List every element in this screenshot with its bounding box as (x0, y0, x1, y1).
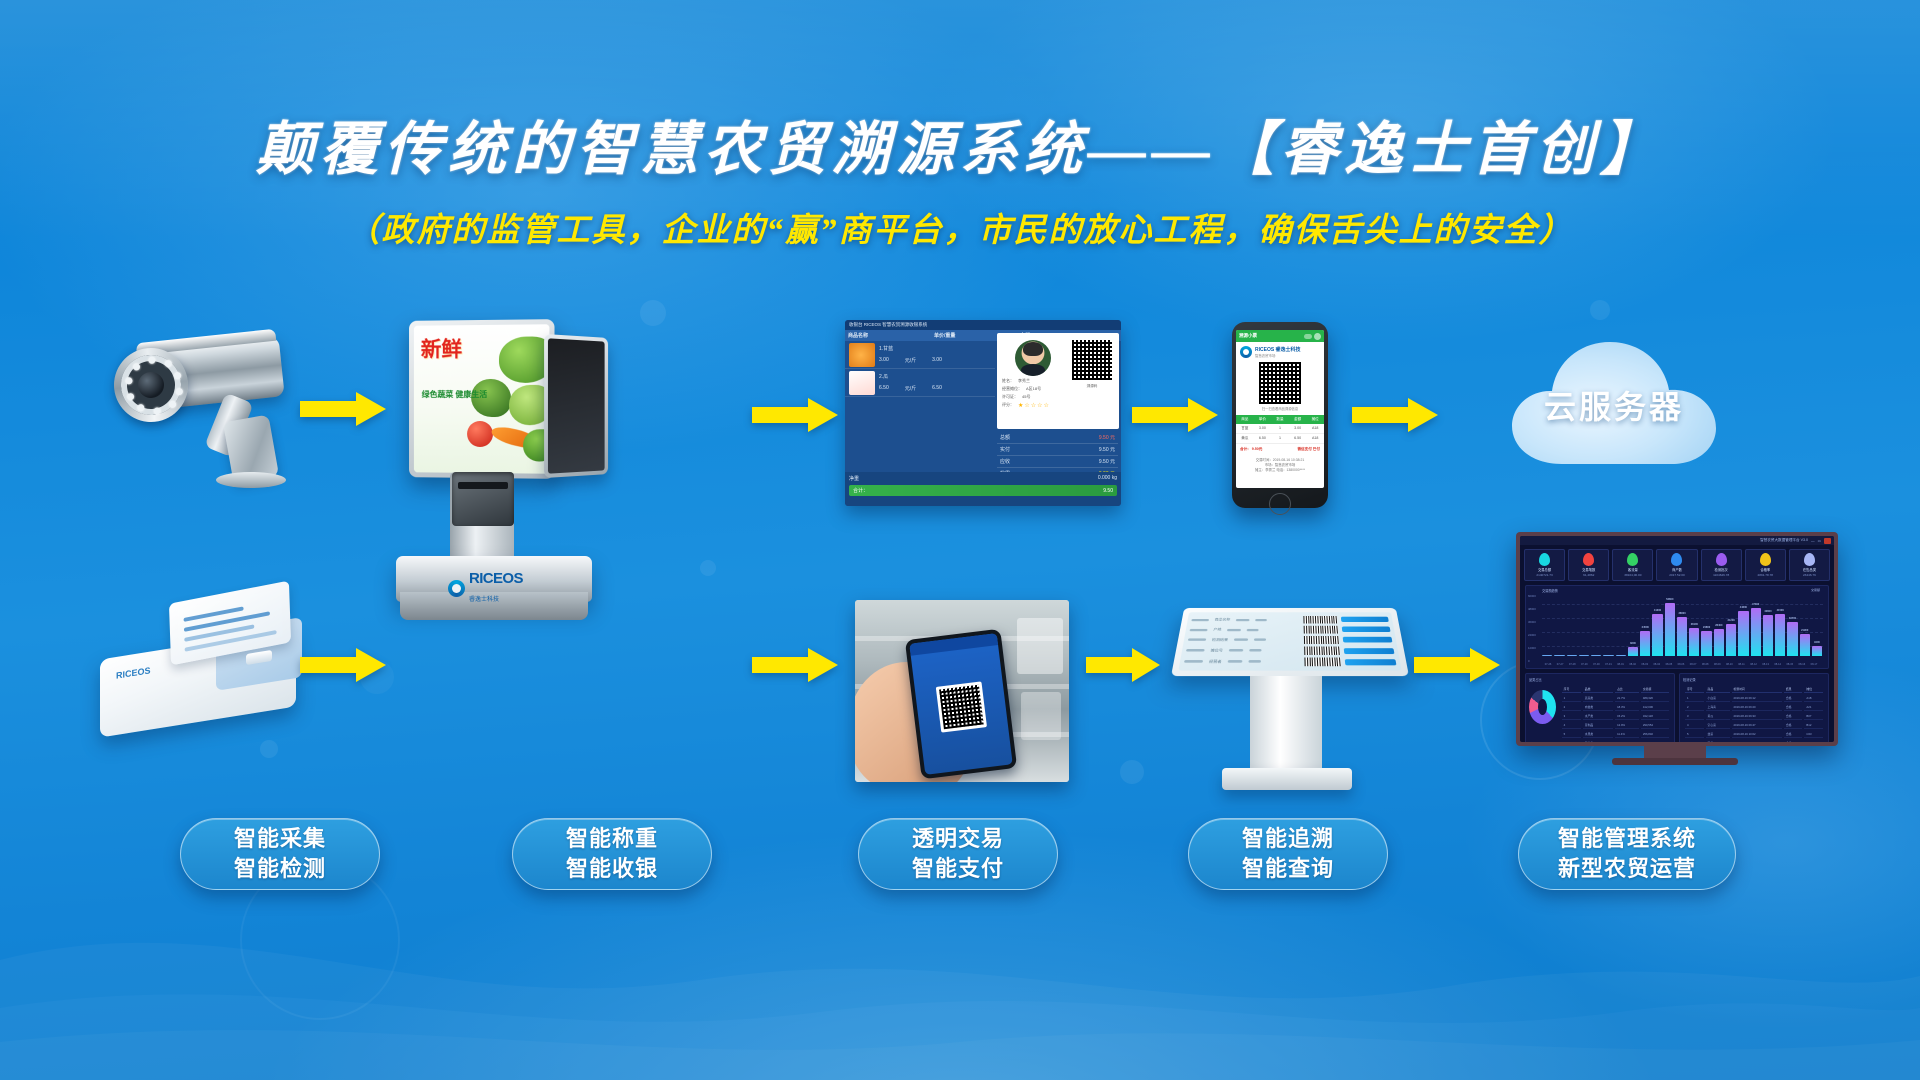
pane-title: 品类占比 (1529, 677, 1671, 682)
pos-display-subline: 绿色蔬菜 健康生活 (422, 389, 487, 400)
node-kiosk[interactable]: 商品名称 产地 检测结果 摊位号 经营者 (1178, 598, 1402, 794)
cell: 豆制品 (1583, 722, 1613, 729)
chart-x-tick: 07-28 (1569, 663, 1576, 666)
pane-inspection-records[interactable]: 检测记录 序号商品检测时间结果摊位1小白菜2019-08-16 09:12合格A… (1679, 673, 1829, 742)
pill-4[interactable]: 智能管理系统 新型农贸运营 (1518, 818, 1736, 890)
kiosk-stand (1250, 676, 1322, 772)
monitor-bezel: 智慧农贸大数据管理平台 V3.0 — ▭ 交易总额2140721.73 交易笔数… (1516, 532, 1838, 746)
cell: 3.00 (1254, 424, 1272, 433)
pill-line-2: 智能支付 (912, 854, 1004, 884)
dashboard-lower-panes: 品类占比 序号品类占比交易额1蔬菜类21.7%489,3202肉禽类18.3%4… (1525, 673, 1829, 742)
smartphone-scanning (905, 629, 1017, 780)
qr-code-icon (1304, 636, 1339, 644)
kpi-card[interactable]: 交易笔数61,4862 (1568, 549, 1609, 581)
kiosk-row-label: 经营者 (1209, 659, 1222, 664)
cell: 2019-08-16 09:33 (1732, 713, 1782, 720)
receipt-col-2: 数量 (1271, 415, 1289, 424)
pos-operator-display[interactable] (544, 334, 608, 478)
node-cloud-server[interactable]: 云服务器 (1500, 330, 1750, 480)
app-header: 溯源小票 (1236, 330, 1324, 342)
kiosk-button[interactable] (1341, 617, 1389, 622)
cell: 6.50 (1254, 434, 1272, 443)
detector-screen (177, 589, 283, 657)
chart-x-tick: 07-31 (1605, 663, 1612, 666)
pill-0[interactable]: 智能采集 智能检测 (180, 818, 380, 890)
category-table: 序号品类占比交易额1蔬菜类21.7%489,3202肉禽类18.3%412,00… (1560, 684, 1671, 742)
cell: 1 (1271, 434, 1289, 443)
node-receipt-phone[interactable]: 溯源小票 RICEOS 睿逸士科技 智慧农贸市场 扫一扫查看商品溯源信息 商品 … (1232, 322, 1328, 512)
chart-x-tick: 08-03 (1641, 663, 1648, 666)
cell: A18 (1306, 434, 1324, 443)
arrow-transaction-to-receipt (1132, 398, 1218, 432)
qr-code-icon (1304, 658, 1341, 667)
donut-chart (1529, 690, 1556, 724)
cell: 2 (1685, 704, 1704, 711)
footer-total-label: 合计： (853, 487, 868, 494)
table-row[interactable]: 1蔬菜类21.7%489,320 (1562, 695, 1669, 702)
riceos-mark (448, 580, 465, 597)
dashboard-window-title: 智慧农贸大数据管理平台 V3.0 (1760, 538, 1808, 543)
chart-x-tick: 08-06 (1678, 663, 1685, 666)
app-header-actions[interactable] (1304, 333, 1321, 340)
cell: 15.2% (1615, 713, 1639, 720)
footer-total-value: 9.50 (1103, 488, 1113, 494)
column-header: 结果 (1784, 686, 1803, 693)
item-price: 3.00 (879, 357, 889, 364)
vendor-field-key: 评分： (1002, 402, 1014, 409)
kpi-card[interactable]: 交易总额2140721.73 (1524, 549, 1565, 581)
column-header: 商品 (1706, 686, 1730, 693)
node-camera[interactable] (96, 330, 306, 500)
cell: 6 (1562, 740, 1581, 742)
chart-x-tick: 08-04 (1653, 663, 1660, 666)
table-row[interactable]: 2.瓜 6.50 元/斤 6.50 (845, 369, 995, 397)
vendor-field-value: 李秀兰 (1018, 378, 1030, 384)
total-key: 应收 (1000, 458, 1010, 465)
arrow-receipt-to-cloud (1352, 398, 1438, 432)
kpi-card[interactable]: 检测批次1104646.78 (1701, 549, 1742, 581)
column-header: 交易额 (1641, 686, 1669, 693)
avatar (1015, 340, 1051, 376)
arrow-detector-to-pos (300, 648, 386, 682)
chart-bar: 41500 (1775, 614, 1785, 656)
qr-code-icon (1304, 647, 1340, 655)
chart-x-tick: 07-29 (1581, 663, 1588, 666)
kpi-card[interactable]: 客流量38104,00.00 (1612, 549, 1653, 581)
chart-x-tick: 08-16 (1799, 663, 1806, 666)
cell: 甘蓝 (1236, 424, 1254, 433)
chart-x-tick: 08-07 (1690, 663, 1697, 666)
cell: 蔬菜类 (1583, 695, 1613, 702)
arrow-payment-to-kiosk (1086, 648, 1160, 682)
total-key: 总额 (1000, 434, 1010, 441)
table-row[interactable]: 1.甘蓝 3.00 元/斤 3.00 (845, 341, 995, 369)
node-detector[interactable]: RICEOS (100, 590, 310, 740)
chart-y-tick: 12000 (1528, 646, 1536, 650)
receipt-col-1: 单价 (1254, 415, 1272, 424)
pane-category-share[interactable]: 品类占比 序号品类占比交易额1蔬菜类21.7%489,3202肉禽类18.3%4… (1525, 673, 1675, 742)
chart-x-tick: 08-14 (1774, 663, 1781, 666)
qr-code-icon (1304, 626, 1339, 634)
pill-line-2: 智能收银 (566, 854, 658, 884)
receipt-total: 合计： 9.50元 (1240, 447, 1262, 452)
cell: 11.4% (1615, 731, 1639, 738)
item-unit: 元/斤 (905, 357, 916, 364)
kiosk-button[interactable] (1342, 627, 1391, 632)
pos-printer[interactable] (452, 472, 514, 526)
table-row: 甘蓝 3.00 1 3.00 A18 (1236, 424, 1324, 434)
table-row[interactable]: 2肉禽类18.3%412,006 (1562, 704, 1669, 711)
camera-lens (137, 371, 166, 400)
kpi-card[interactable]: 合格率2891.78.78 (1745, 549, 1786, 581)
kiosk-base (1222, 768, 1352, 790)
cell: 1 (1685, 695, 1704, 702)
camera-base-plate (216, 472, 286, 488)
pill-line-1: 智能追溯 (1242, 824, 1334, 854)
kiosk-button-column (1341, 615, 1397, 667)
maximize-icon[interactable]: ▭ (1818, 539, 1821, 543)
riceos-mark (1240, 346, 1252, 358)
chart-bar: 28100 (1689, 628, 1699, 656)
chart-bar: 24500 (1640, 631, 1650, 656)
pill-1[interactable]: 智能称重 智能收银 (512, 818, 712, 890)
item-thumbnail (849, 371, 875, 395)
chart-bars: 8200245004130052800386002810024800264003… (1542, 596, 1822, 656)
vendor-field-key: 姓名： (1002, 378, 1014, 384)
kpi-card[interactable]: 商户数2017.52.00 (1656, 549, 1697, 581)
total-value: 9.50 元 (1099, 458, 1115, 465)
kpi-value: 2140721.73 (1526, 573, 1563, 577)
kiosk-button[interactable] (1344, 648, 1395, 654)
chart-bar: 38600 (1677, 617, 1687, 656)
cell: 412,006 (1641, 704, 1669, 711)
cell: A21 (1804, 704, 1823, 711)
pill-line-1: 智能管理系统 (1558, 824, 1696, 854)
close-icon[interactable] (1824, 538, 1831, 544)
table-row[interactable]: 3黄瓜2019-08-16 09:33合格B07 (1685, 713, 1823, 720)
arrow-camera-to-pos (300, 392, 386, 426)
pos-display-headline: 新鲜 (421, 339, 462, 361)
cell: 合格 (1784, 695, 1803, 702)
transaction-window[interactable]: 收银台 RICEOS 智慧农贸溯源收银系统 商品名称 单价/重量 金额 1.甘蓝… (845, 320, 1121, 506)
table-row[interactable]: 5水果类11.4%256,832 (1562, 731, 1669, 738)
column-header: 摊位 (1804, 686, 1823, 693)
receipt-col-4: 摊位 (1306, 415, 1324, 424)
qr-caption: 扫一扫查看商品溯源信息 (1236, 406, 1324, 411)
cell: 1 (1271, 424, 1289, 433)
chart-x-tick: 08-15 (1786, 663, 1793, 666)
cell: 6 (1685, 740, 1704, 742)
qr-code-icon[interactable] (1259, 362, 1301, 404)
pill-line-2: 智能查询 (1242, 854, 1334, 884)
table-row[interactable]: 3水产类15.2%342,118 (1562, 713, 1669, 720)
riceos-cn-name: 睿逸士科技 (469, 597, 499, 603)
cell: 空心菜 (1706, 722, 1730, 729)
pill-2[interactable]: 透明交易 智能支付 (858, 818, 1058, 890)
cell: 黄瓜 (1706, 713, 1730, 720)
chart-x-tick: 08-11 (1738, 663, 1744, 666)
vendor-field-value: 45号 (1022, 394, 1030, 400)
vendor-field-key: 经营摊位： (1002, 386, 1022, 392)
node-dashboard[interactable]: 智慧农贸大数据管理平台 V3.0 — ▭ 交易总额2140721.73 交易笔数… (1516, 532, 1838, 766)
item-thumbnail (849, 343, 875, 367)
cell: 2019-08-16 10:02 (1732, 731, 1782, 738)
chart-bar: 9400 (1812, 646, 1822, 655)
table-row[interactable]: 6豆角2019-08-16 10:18合格C09 (1685, 740, 1823, 742)
item-unit: 元/斤 (905, 385, 916, 392)
qr-code-icon (936, 681, 987, 732)
receipt-col-3: 金额 (1289, 415, 1307, 424)
cell: 342,118 (1641, 713, 1669, 720)
pill-line-1: 透明交易 (912, 824, 1004, 854)
chart-bar: 26400 (1714, 629, 1724, 655)
cell: 9.8% (1615, 740, 1639, 742)
cell: B07 (1804, 713, 1823, 720)
smartphone-device[interactable]: 溯源小票 RICEOS 睿逸士科技 智慧农贸市场 扫一扫查看商品溯源信息 商品 … (1232, 322, 1328, 508)
kiosk-row-label: 产地 (1213, 627, 1221, 632)
node-mobile-payment[interactable] (855, 600, 1069, 782)
cell: 4 (1685, 722, 1704, 729)
pill-3[interactable]: 智能追溯 智能查询 (1188, 818, 1388, 890)
payment-photo (855, 600, 1069, 782)
vendor-info-card: 姓名：李秀兰 经营摊位：A区18号 许可证：45号 评分：★☆☆☆☆ 溯源码 (997, 333, 1119, 429)
qr-code-icon (1070, 338, 1114, 382)
chart-x-tick: 08-08 (1702, 663, 1709, 666)
transaction-footer: 净重 0.000 kg 合计： 9.50 (845, 472, 1121, 506)
chart-title: 交易额趋势 (1542, 588, 1558, 593)
cell: 256,832 (1641, 731, 1669, 738)
app-title: 溯源小票 (1239, 333, 1257, 339)
phone-screen[interactable]: 溯源小票 RICEOS 睿逸士科技 智慧农贸市场 扫一扫查看商品溯源信息 商品 … (1236, 330, 1324, 488)
kpi-value: 23446.76 (1791, 573, 1828, 577)
transaction-total-bar: 合计： 9.50 (849, 485, 1117, 496)
chart-x-tick: 07-26 (1545, 663, 1552, 666)
camera-ir-ring (118, 352, 184, 418)
tx-col-0: 商品名称 (845, 332, 931, 339)
cell: 5 (1562, 731, 1581, 738)
transaction-item-list: 1.甘蓝 3.00 元/斤 3.00 2.瓜 6.50 (845, 341, 995, 472)
inspection-table: 序号商品检测时间结果摊位1小白菜2019-08-16 09:12合格A182上海… (1683, 684, 1825, 742)
receipt-table-header: 商品 单价 数量 金额 摊位 (1236, 415, 1324, 424)
kpi-row: 交易总额2140721.73 交易笔数61,4862 客流量38104,00.0… (1520, 545, 1834, 581)
chart-bar: 47300 (1751, 608, 1761, 655)
cloud-label: 云服务器 (1544, 382, 1684, 428)
cell: 21.7% (1615, 695, 1639, 702)
cell: 3 (1562, 713, 1581, 720)
vendor-field-key: 许可证： (1002, 394, 1018, 400)
cell: 4 (1562, 722, 1581, 729)
chart-y-tick: 0 (1528, 659, 1530, 663)
total-key: 实付 (1000, 446, 1010, 453)
cell: B12 (1804, 722, 1823, 729)
chart-x-tick: 08-10 (1726, 663, 1733, 666)
riceos-logo: RICEOS 睿逸士科技 (448, 570, 523, 606)
arrow-kiosk-to-dashboard (1414, 648, 1500, 682)
table-row[interactable]: 1小白菜2019-08-16 09:12合格A18 (1685, 695, 1823, 702)
cell: 489,320 (1641, 695, 1669, 702)
cell: 水产类 (1583, 713, 1613, 720)
receipt-market: 智慧农贸市场 (1255, 354, 1275, 358)
chart-x-tick: 08-13 (1762, 663, 1769, 666)
kpi-value: 38104,00.00 (1614, 573, 1651, 577)
item-price: 6.50 (879, 385, 889, 392)
arrow-pos-to-transaction (752, 398, 838, 432)
chart-x-tick: 08-12 (1750, 663, 1757, 666)
cell: 290,554 (1641, 722, 1669, 729)
cell: 2 (1562, 704, 1581, 711)
chart-bar: 41300 (1652, 614, 1662, 655)
chart-bar: 40800 (1763, 615, 1773, 656)
cell: 韭菜 (1706, 731, 1730, 738)
kpi-value: 61,4862 (1570, 573, 1607, 577)
table-row[interactable]: 5韭菜2019-08-16 10:02合格C03 (1685, 731, 1823, 738)
cell: 2019-08-16 09:47 (1732, 722, 1782, 729)
column-header: 检测时间 (1732, 686, 1782, 693)
cell: 6.50 (1289, 434, 1307, 443)
chart-bar: 52800 (1665, 603, 1675, 656)
home-button[interactable] (1269, 493, 1291, 515)
node-transaction-screen[interactable]: 收银台 RICEOS 智慧农贸溯源收银系统 商品名称 单价/重量 金额 1.甘蓝… (845, 320, 1121, 506)
header: 颠覆传统的智慧农贸溯源系统——【睿逸士首创】 （政府的监管工具，企业的“赢”商平… (0, 120, 1920, 251)
list-item: 摊位号 (1186, 648, 1301, 653)
chart-bar: 44600 (1738, 611, 1748, 656)
chart-y-tick: 60000 (1528, 594, 1536, 598)
qr-caption: 溯源码 (1070, 384, 1114, 389)
cell: 2019-08-16 09:20 (1732, 704, 1782, 711)
dashboard-screen[interactable]: 智慧农贸大数据管理平台 V3.0 — ▭ 交易总额2140721.73 交易笔数… (1520, 536, 1834, 742)
table-row[interactable]: 2上海青2019-08-16 09:20合格A21 (1685, 704, 1823, 711)
table-row[interactable]: 4豆制品12.9%290,554 (1562, 722, 1669, 729)
kpi-card[interactable]: 在售品类23446.76 (1789, 549, 1830, 581)
qr-code-icon (1303, 616, 1337, 624)
cell: 合格 (1784, 731, 1803, 738)
receipt-footer: 交易时间：2019-08-16 10:38:21 市场：智慧农贸市场 摊主：李秀… (1236, 455, 1324, 476)
chart-x-tick: 07-27 (1557, 663, 1564, 666)
kiosk-row-label: 检测结果 (1212, 638, 1229, 643)
pill-line-1: 智能采集 (234, 824, 326, 854)
column-header: 序号 (1685, 686, 1704, 693)
table-row[interactable]: 4空心菜2019-08-16 09:47合格B12 (1685, 722, 1823, 729)
page-title: 颠覆传统的智慧农贸溯源系统——【睿逸士首创】 (0, 120, 1920, 181)
chart-y-tick: 36000 (1528, 620, 1536, 624)
node-pos-scale[interactable]: 新鲜 绿色蔬菜 健康生活 RICEOS 睿逸士科技 (390, 320, 630, 630)
kiosk-button[interactable] (1345, 659, 1397, 665)
kiosk-row-label: 商品名称 (1214, 618, 1230, 623)
cell: 2019-08-16 09:12 (1732, 695, 1782, 702)
total-value: 9.50 元 (1099, 446, 1115, 453)
pill-line-2: 智能检测 (234, 854, 326, 884)
riceos-wordmark: RICEOS (469, 570, 523, 587)
cell: 合格 (1784, 704, 1803, 711)
item-name: 2.瓜 (879, 373, 942, 380)
chart-bar: 21900 (1800, 634, 1810, 656)
rating-stars: ★☆☆☆☆ (1018, 402, 1050, 409)
pill-line-1: 智能称重 (566, 824, 658, 854)
item-amount: 6.50 (932, 385, 942, 392)
cell: 合格 (1784, 713, 1803, 720)
receipt-brand: RICEOS 睿逸士科技 智慧农贸市场 (1236, 342, 1324, 358)
cell: 肉禽类 (1583, 704, 1613, 711)
cell: 18.3% (1615, 704, 1639, 711)
chart-y-tick: 48000 (1528, 607, 1536, 611)
column-header: 品类 (1583, 686, 1613, 693)
chart-x-tick: 08-02 (1629, 663, 1636, 666)
cell: 5 (1685, 731, 1704, 738)
kiosk-row-list: 商品名称 产地 检测结果 摊位号 经营者 (1183, 615, 1300, 667)
kiosk-row-label: 摊位号 (1210, 648, 1223, 653)
cell: 粮油类 (1583, 740, 1613, 742)
chart-legend: 交易额 (1811, 588, 1820, 592)
chart-x-tick: 08-17 (1811, 663, 1818, 666)
chart-bar: 31200 (1726, 624, 1736, 655)
chart-bar: 33700 (1787, 622, 1797, 656)
bar-chart[interactable]: 交易额趋势 交易额 820024500413005280038600281002… (1525, 585, 1829, 669)
cell: A18 (1804, 695, 1823, 702)
table-row[interactable]: 6粮油类 9.8%220,716 (1562, 740, 1669, 742)
list-item: 经营者 (1184, 659, 1301, 664)
cell: 上海青 (1706, 704, 1730, 711)
cell: A18 (1306, 424, 1324, 433)
cell: C03 (1804, 731, 1823, 738)
minimize-icon[interactable]: — (1811, 539, 1815, 543)
kiosk-screen[interactable]: 商品名称 产地 检测结果 摊位号 经营者 (1171, 608, 1409, 676)
cell: 合格 (1784, 740, 1803, 742)
receipt-footer-line: 摊主：李秀兰 电话：1380000**** (1240, 468, 1320, 473)
cell: 12.9% (1615, 722, 1639, 729)
receipt-payment: 微信支付 已付 (1297, 447, 1320, 452)
chart-bar: 24800 (1701, 631, 1711, 656)
chart-y-tick: 24000 (1528, 633, 1536, 637)
cell: 220,716 (1641, 740, 1669, 742)
cell: 小白菜 (1706, 695, 1730, 702)
chart-x-tick: 08-01 (1617, 663, 1624, 666)
pill-line-2: 新型农贸运营 (1558, 854, 1696, 884)
chart-x-tick: 07-30 (1593, 663, 1600, 666)
table-row: 黄瓜 6.50 1 6.50 A18 (1236, 434, 1324, 444)
transaction-titlebar: 收银台 RICEOS 智慧农贸溯源收银系统 (845, 320, 1121, 330)
cell: 水果类 (1583, 731, 1613, 738)
cell: 豆角 (1706, 740, 1730, 742)
list-item: 商品名称 (1191, 618, 1300, 623)
chart-bar: 8200 (1628, 647, 1638, 655)
page-subtitle: （政府的监管工具，企业的“赢”商平台，市民的放心工程，确保舌尖上的安全） (0, 203, 1920, 251)
receipt-brand-name: RICEOS 睿逸士科技 (1255, 347, 1301, 353)
cell: 黄瓜 (1236, 434, 1254, 443)
cell: 3 (1685, 713, 1704, 720)
column-header: 占比 (1615, 686, 1639, 693)
cell: 合格 (1784, 722, 1803, 729)
cell: 1 (1562, 695, 1581, 702)
kiosk-qr-column (1303, 615, 1341, 667)
weight-label: 净重 (849, 475, 859, 482)
cell: C09 (1804, 740, 1823, 742)
kpi-value: 2017.52.00 (1658, 573, 1695, 577)
chart-x-tick: 08-09 (1714, 663, 1721, 666)
kpi-value: 2891.78.78 (1747, 573, 1784, 577)
item-name: 1.甘蓝 (879, 345, 942, 352)
pos-customer-display[interactable]: 新鲜 绿色蔬菜 健康生活 (409, 319, 554, 479)
dashboard-titlebar: 智慧农贸大数据管理平台 V3.0 — ▭ (1520, 536, 1834, 545)
weight-value: 0.000 kg (1098, 475, 1117, 482)
receipt-col-0: 商品 (1236, 415, 1254, 424)
cell: 2019-08-16 10:18 (1732, 740, 1782, 742)
pane-title: 检测记录 (1683, 677, 1825, 682)
monitor-base (1612, 758, 1738, 765)
arrow-pos-to-payment (752, 648, 838, 682)
kiosk-button[interactable] (1343, 637, 1393, 643)
list-item: 检测结果 (1188, 638, 1300, 643)
total-value: 9.50 元 (1099, 434, 1115, 441)
